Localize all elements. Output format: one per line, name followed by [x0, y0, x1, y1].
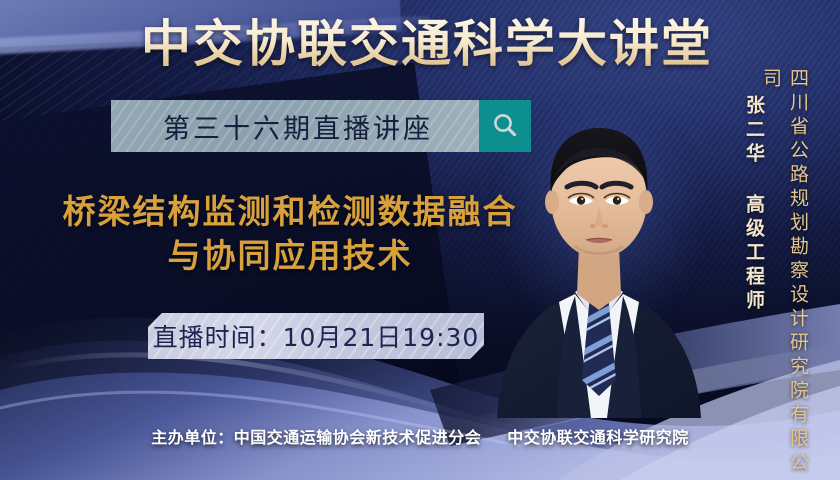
footer-organizers: 主办单位：中国交通运输协会新技术促进分会中交协联交通科学研究院 [0, 424, 840, 448]
subtitle-bar-body: 第三十六期直播讲座 [111, 100, 479, 152]
subtitle-label: 第三十六期直播讲座 [157, 107, 433, 146]
poster-canvas: 中交协联交通科学大讲堂 第三十六期直播讲座 桥梁结构监测和检测数据融合 与协同应… [0, 0, 840, 480]
page-title: 中交协联交通科学大讲堂 [0, 16, 840, 74]
live-time-label: 直播时间：10月21日19:30 [153, 318, 480, 354]
footer-host-label: 主办单位：中国交通运输协会新技术促进分会 [151, 428, 481, 447]
speaker-portrait [479, 88, 715, 418]
speaker-organization: 四川省公路规划勘察设计研究院有限公司 [758, 68, 812, 480]
live-time-badge: 直播时间：10月21日19:30 [148, 313, 484, 359]
footer-org-secondary: 中交协联交通科学研究院 [507, 428, 689, 447]
subtitle-bar: 第三十六期直播讲座 [111, 100, 531, 152]
